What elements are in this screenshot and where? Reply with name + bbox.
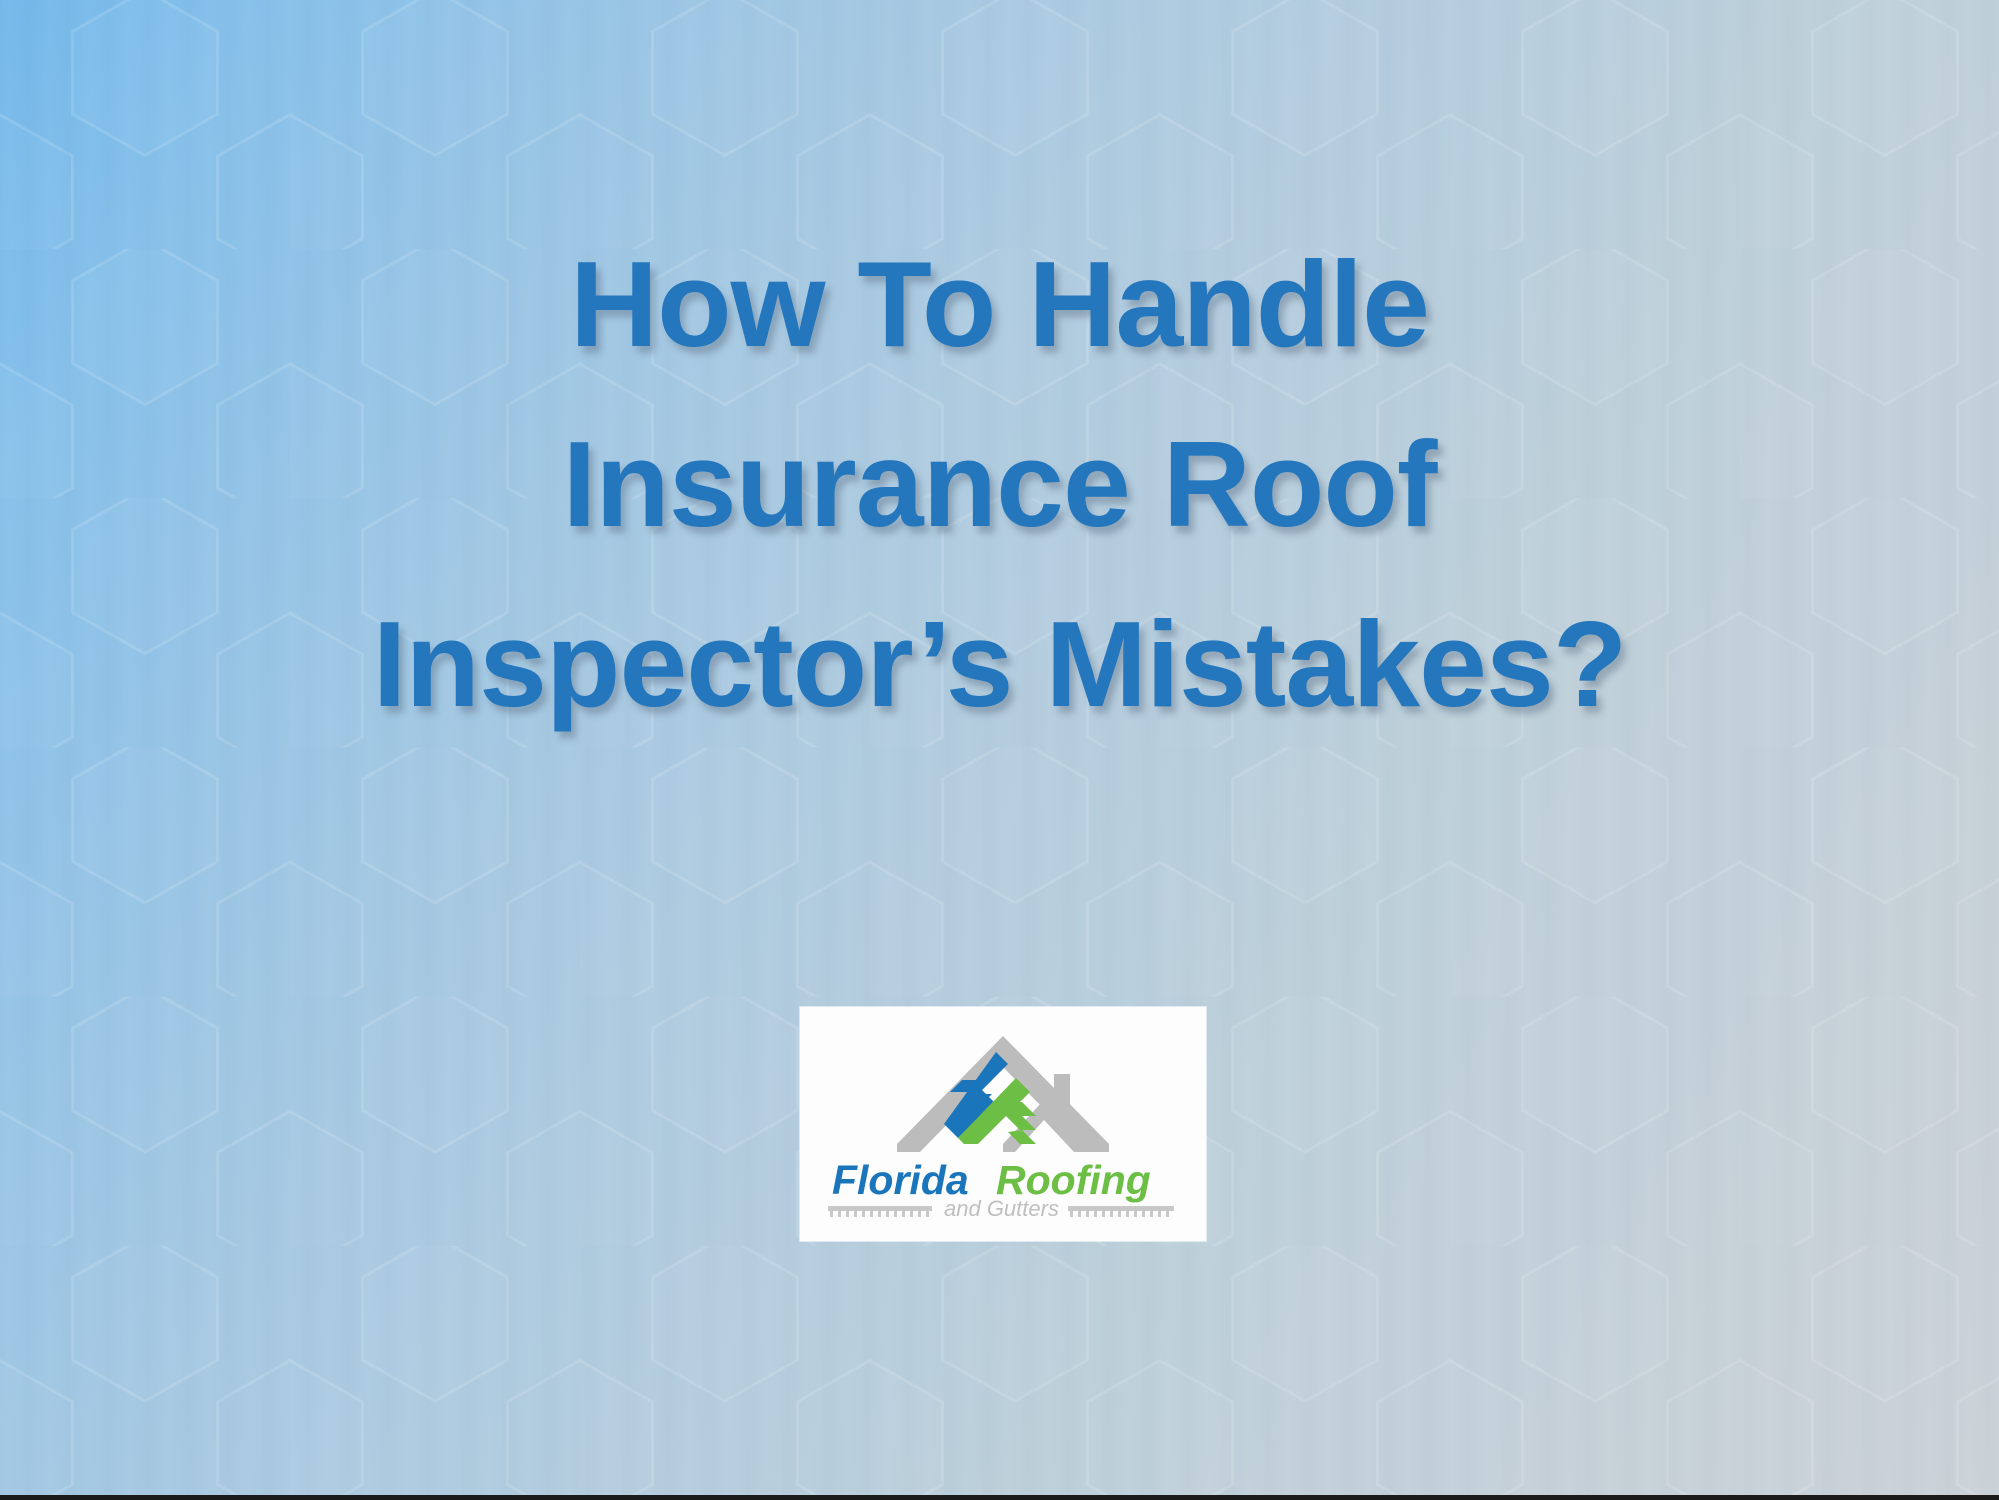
company-logo-card: Florida Roofing (800, 1007, 1206, 1241)
title-line-2: Insurance Roof (0, 394, 1999, 574)
title-line-1: How To Handle (0, 214, 1999, 394)
page-title: How To Handle Insurance Roof Inspector’s… (0, 214, 1999, 754)
title-slide: How To Handle Insurance Roof Inspector’s… (0, 0, 1999, 1500)
roof-triangle-logo-icon (896, 1034, 1110, 1152)
logo-wordmark: Florida Roofing (818, 1154, 1188, 1220)
title-line-3: Inspector’s Mistakes? (0, 574, 1999, 754)
gutter-comb-right-icon (1068, 1206, 1174, 1217)
gutter-comb-left-icon (828, 1206, 932, 1217)
wordmark-tagline: and Gutters (944, 1196, 1059, 1220)
